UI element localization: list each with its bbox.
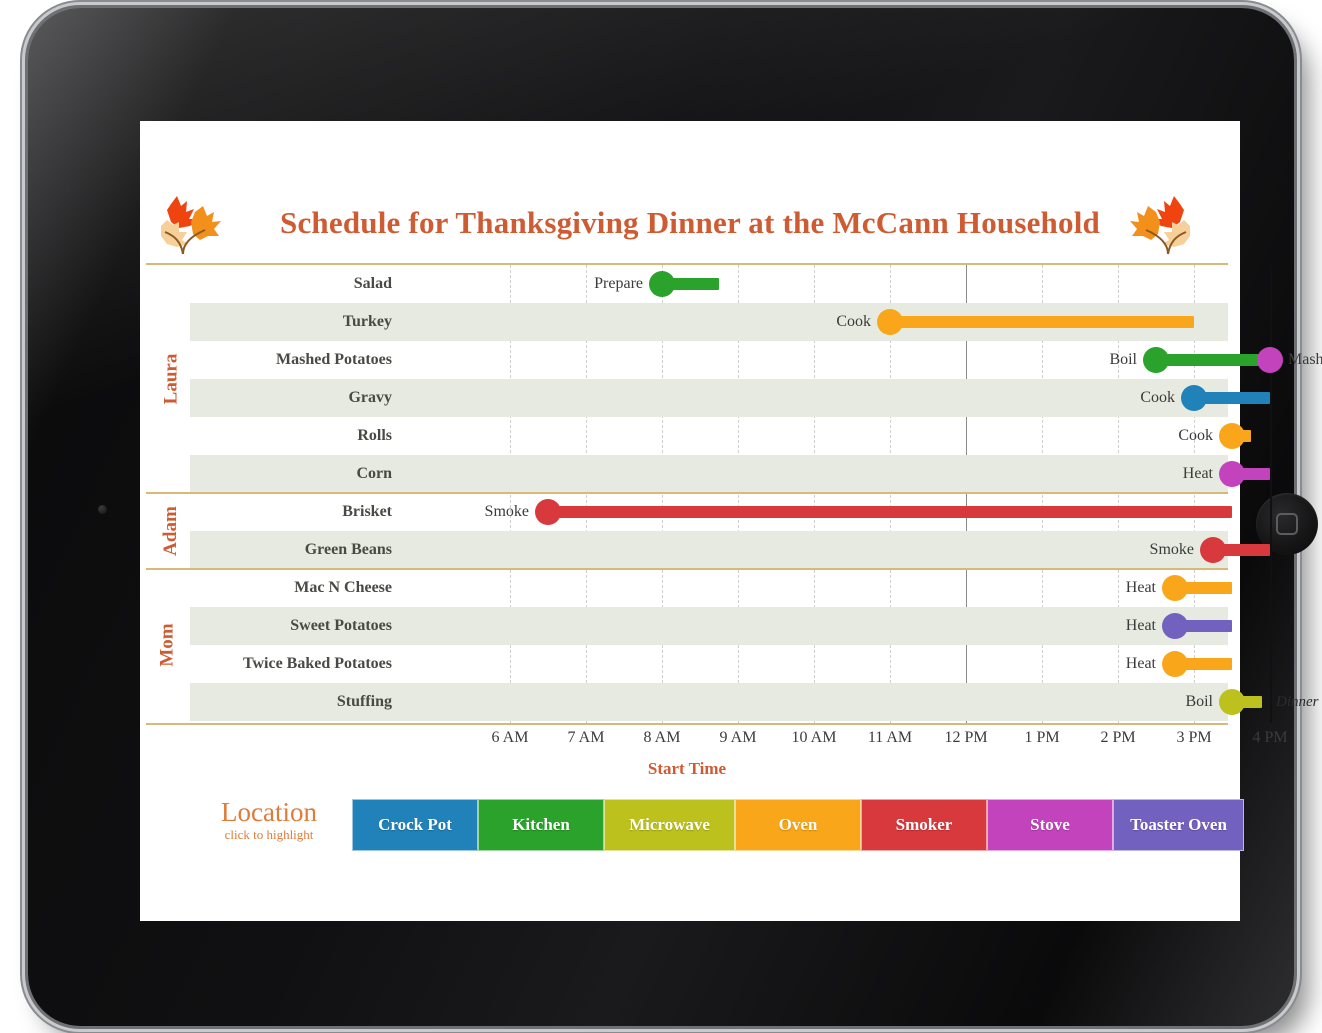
x-axis-tick: 10 AM: [784, 727, 844, 749]
bar-action-label: Heat: [972, 607, 1156, 645]
row-label-mac-n-cheese: Mac N Cheese: [190, 569, 402, 607]
gantt-bar-start-dot[interactable]: [649, 271, 675, 297]
x-axis-tick: 6 AM: [480, 727, 540, 749]
maple-leaf-icon: [1128, 192, 1202, 256]
bar-action-label: Boil: [953, 341, 1137, 379]
front-camera-icon: [98, 505, 107, 514]
table-row[interactable]: GravyCook: [146, 379, 1228, 417]
legend-item-microwave[interactable]: Microwave: [604, 799, 735, 851]
table-row[interactable]: Green BeansSmoke: [146, 531, 1228, 569]
legend-item-smoker[interactable]: Smoker: [861, 799, 987, 851]
table-row[interactable]: Mashed PotatoesBoilMash: [146, 341, 1228, 379]
table-row[interactable]: CornHeat: [146, 455, 1228, 493]
group-divider: [146, 568, 1228, 570]
tablet-screen: Schedule for Thanksgiving Dinner at the …: [140, 121, 1240, 921]
bar-action-label: Heat: [1029, 455, 1213, 493]
tablet-device-frame: Schedule for Thanksgiving Dinner at the …: [28, 8, 1294, 1026]
x-axis-label: Start Time: [146, 759, 1228, 779]
legend-item-oven[interactable]: Oven: [735, 799, 861, 851]
legend-item-stove[interactable]: Stove: [987, 799, 1113, 851]
page-title: Schedule for Thanksgiving Dinner at the …: [140, 184, 1240, 262]
bar-action-label: Heat: [972, 569, 1156, 607]
table-row[interactable]: RollsCook: [146, 417, 1228, 455]
x-axis-tick: 1 PM: [1012, 727, 1072, 749]
bar-action-label: Cook: [991, 379, 1175, 417]
legend-item-kitchen[interactable]: Kitchen: [478, 799, 604, 851]
gantt-bar[interactable]: [548, 506, 1232, 518]
home-button-square-icon: [1276, 513, 1298, 535]
legend: Location click to highlight Crock PotKit…: [190, 797, 1210, 853]
legend-title: Location: [190, 797, 348, 827]
group-name-mom: Mom: [146, 569, 186, 721]
bar-action-label: Boil: [1029, 683, 1213, 721]
legend-item-toaster-oven[interactable]: Toaster Oven: [1113, 799, 1244, 851]
legend-item-crock-pot[interactable]: Crock Pot: [352, 799, 478, 851]
group-name-laura: Laura: [146, 265, 186, 493]
gantt-chart: SaladPrepareTurkeyCookMashed PotatoesBoi…: [146, 263, 1228, 725]
gantt-bar[interactable]: [890, 316, 1194, 328]
bar-action-label: Prepare: [459, 265, 643, 303]
table-row[interactable]: Sweet PotatoesHeat: [146, 607, 1228, 645]
x-axis-tick: 11 AM: [860, 727, 920, 749]
gantt-bar-start-dot[interactable]: [1143, 347, 1169, 373]
legend-items: Crock PotKitchenMicrowaveOvenSmokerStove…: [352, 799, 1244, 851]
x-axis-tick: 4 PM: [1240, 727, 1300, 749]
table-row[interactable]: TurkeyCook: [146, 303, 1228, 341]
gantt-bar-start-dot[interactable]: [1219, 461, 1245, 487]
gantt-bar-start-dot[interactable]: [1162, 651, 1188, 677]
row-label-rolls: Rolls: [190, 417, 402, 455]
x-axis-tick: 2 PM: [1088, 727, 1148, 749]
group-name-text: Mom: [92, 623, 244, 666]
x-axis-tick: 8 AM: [632, 727, 692, 749]
legend-subtitle: click to highlight: [190, 827, 348, 843]
chart-bottom-divider: [146, 723, 1228, 725]
group-name-text: Laura: [57, 354, 285, 405]
group-name-adam: Adam: [146, 493, 186, 569]
table-row[interactable]: BrisketSmoke: [146, 493, 1228, 531]
table-row[interactable]: Twice Baked PotatoesHeat: [146, 645, 1228, 683]
gantt-bar-end-dot[interactable]: [1257, 347, 1283, 373]
title-bar: Schedule for Thanksgiving Dinner at the …: [140, 184, 1240, 262]
dinner-time-line: [1270, 265, 1272, 723]
bar-action-label: Smoke: [345, 493, 529, 531]
bar-end-label: Mash: [1288, 341, 1322, 379]
gantt-bar-start-dot[interactable]: [1200, 537, 1226, 563]
row-label-stuffing: Stuffing: [190, 683, 402, 721]
gantt-bar-start-dot[interactable]: [1162, 575, 1188, 601]
row-label-salad: Salad: [190, 265, 402, 303]
gantt-bar-start-dot[interactable]: [1219, 689, 1245, 715]
gantt-bar-start-dot[interactable]: [535, 499, 561, 525]
group-divider: [146, 492, 1228, 494]
bar-action-label: Heat: [972, 645, 1156, 683]
table-row[interactable]: Mac N CheeseHeat: [146, 569, 1228, 607]
bar-action-label: Smoke: [1010, 531, 1194, 569]
table-row[interactable]: SaladPrepare: [146, 265, 1228, 303]
group-name-text: Adam: [133, 506, 209, 556]
row-label-corn: Corn: [190, 455, 402, 493]
gantt-bar-start-dot[interactable]: [1162, 613, 1188, 639]
gantt-bar-start-dot[interactable]: [1181, 385, 1207, 411]
row-label-turkey: Turkey: [190, 303, 402, 341]
x-axis-tick: 7 AM: [556, 727, 616, 749]
table-row[interactable]: StuffingBoilDinner: [146, 683, 1228, 721]
x-axis-tick: 3 PM: [1164, 727, 1224, 749]
row-label-green-beans: Green Beans: [190, 531, 402, 569]
bar-action-label: Cook: [1029, 417, 1213, 455]
bar-action-label: Cook: [687, 303, 871, 341]
legend-title-block: Location click to highlight: [190, 797, 348, 853]
dinner-marker-label: Dinner: [1276, 683, 1319, 721]
gantt-bar[interactable]: [1156, 354, 1270, 366]
gantt-bar-start-dot[interactable]: [1219, 423, 1245, 449]
x-axis-tick: 12 PM: [936, 727, 996, 749]
x-axis-tick: 9 AM: [708, 727, 768, 749]
gantt-bar-start-dot[interactable]: [877, 309, 903, 335]
x-axis: 6 AM7 AM8 AM9 AM10 AM11 AM12 PM1 PM2 PM3…: [146, 727, 1228, 787]
